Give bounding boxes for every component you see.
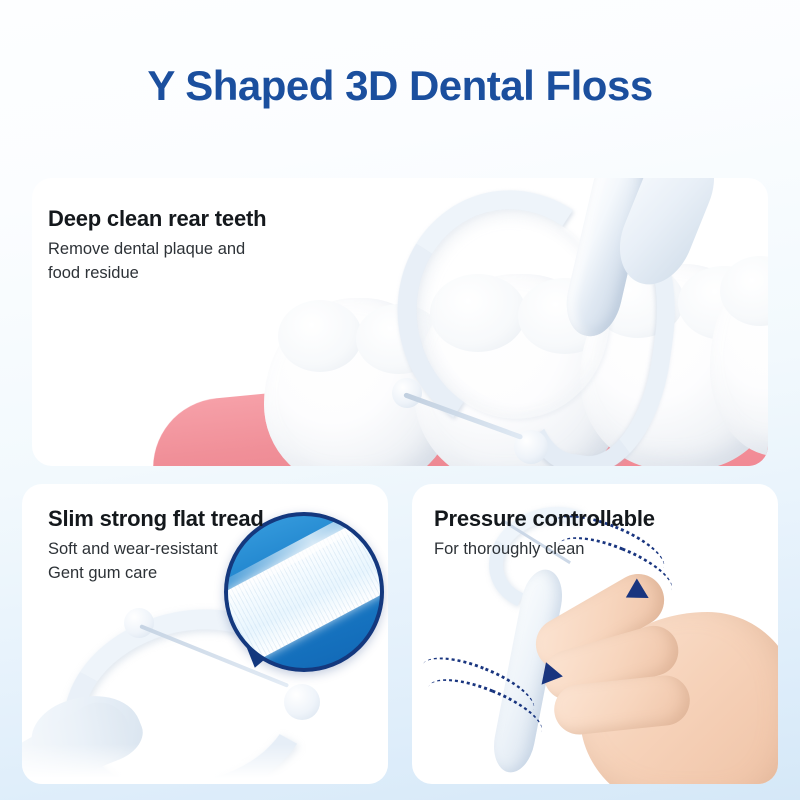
- card-subline: food residue: [48, 262, 266, 286]
- card-heading: Pressure controllable: [434, 506, 655, 531]
- floss-pick-tip: [284, 684, 320, 720]
- feature-card-deep-clean: Deep clean rear teeth Remove dental plaq…: [32, 178, 768, 466]
- card-subline: For thoroughly clean: [434, 538, 655, 562]
- product-infographic: Y Shaped 3D Dental Floss: [0, 0, 800, 800]
- card-heading: Deep clean rear teeth: [48, 206, 266, 231]
- page-title: Y Shaped 3D Dental Floss: [0, 62, 800, 110]
- card-text-block: Slim strong flat tread Soft and wear-res…: [48, 506, 264, 586]
- card-subline: Gent gum care: [48, 562, 264, 586]
- card-subline: Remove dental plaque and: [48, 238, 266, 262]
- knuckle-highlight: [776, 762, 778, 784]
- card-subline: Soft and wear-resistant: [48, 538, 264, 562]
- card-heading: Slim strong flat tread: [48, 506, 264, 531]
- feature-card-pressure-controllable: Pressure controllable For thoroughly cle…: [412, 484, 778, 784]
- tooth-cusp: [278, 300, 362, 372]
- image-fade-mask: [22, 744, 388, 784]
- feature-card-slim-tread: Slim strong flat tread Soft and wear-res…: [22, 484, 388, 784]
- card-text-block: Deep clean rear teeth Remove dental plaq…: [48, 206, 266, 286]
- card-text-block: Pressure controllable For thoroughly cle…: [434, 506, 655, 562]
- floss-pick-tip: [124, 608, 154, 638]
